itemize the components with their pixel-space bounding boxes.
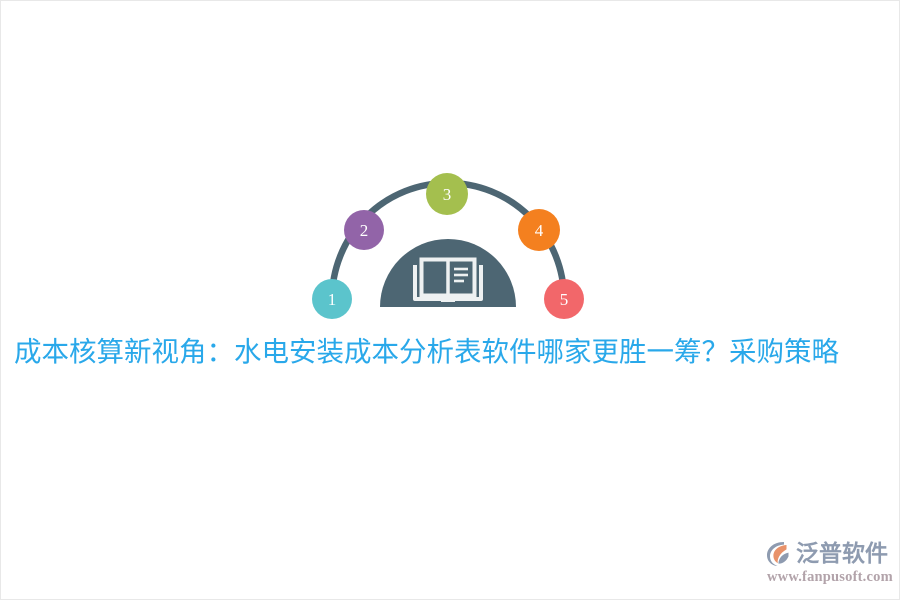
article-title[interactable]: 成本核算新视角：水电安装成本分析表软件哪家更胜一筹？采购策略	[14, 332, 888, 372]
page-root: 1 2 3 4 5 成本核算新视角：水电安装成本分析表软件哪家更胜一筹？采购策略	[0, 0, 900, 600]
step-bubble-1-label: 1	[328, 290, 337, 309]
brand-url: www.fanpusoft.com	[767, 569, 891, 586]
step-bubble-5[interactable]: 5	[544, 279, 584, 319]
fanpu-swoosh-icon	[765, 540, 793, 568]
step-bubble-2[interactable]: 2	[344, 210, 384, 250]
brand-logo-row: 泛普软件	[765, 539, 891, 569]
step-bubble-1[interactable]: 1	[312, 279, 352, 319]
brand-logo[interactable]: 泛普软件 www.fanpusoft.com	[765, 539, 891, 587]
step-bubble-2-label: 2	[360, 221, 369, 240]
step-bubble-4[interactable]: 4	[518, 209, 560, 251]
step-bubble-5-label: 5	[560, 290, 569, 309]
brand-name: 泛普软件	[796, 540, 888, 568]
step-bubble-3-label: 3	[443, 185, 452, 204]
hero-infographic: 1 2 3 4 5	[298, 151, 598, 331]
step-bubble-4-label: 4	[535, 221, 544, 240]
step-bubble-3[interactable]: 3	[426, 173, 468, 215]
